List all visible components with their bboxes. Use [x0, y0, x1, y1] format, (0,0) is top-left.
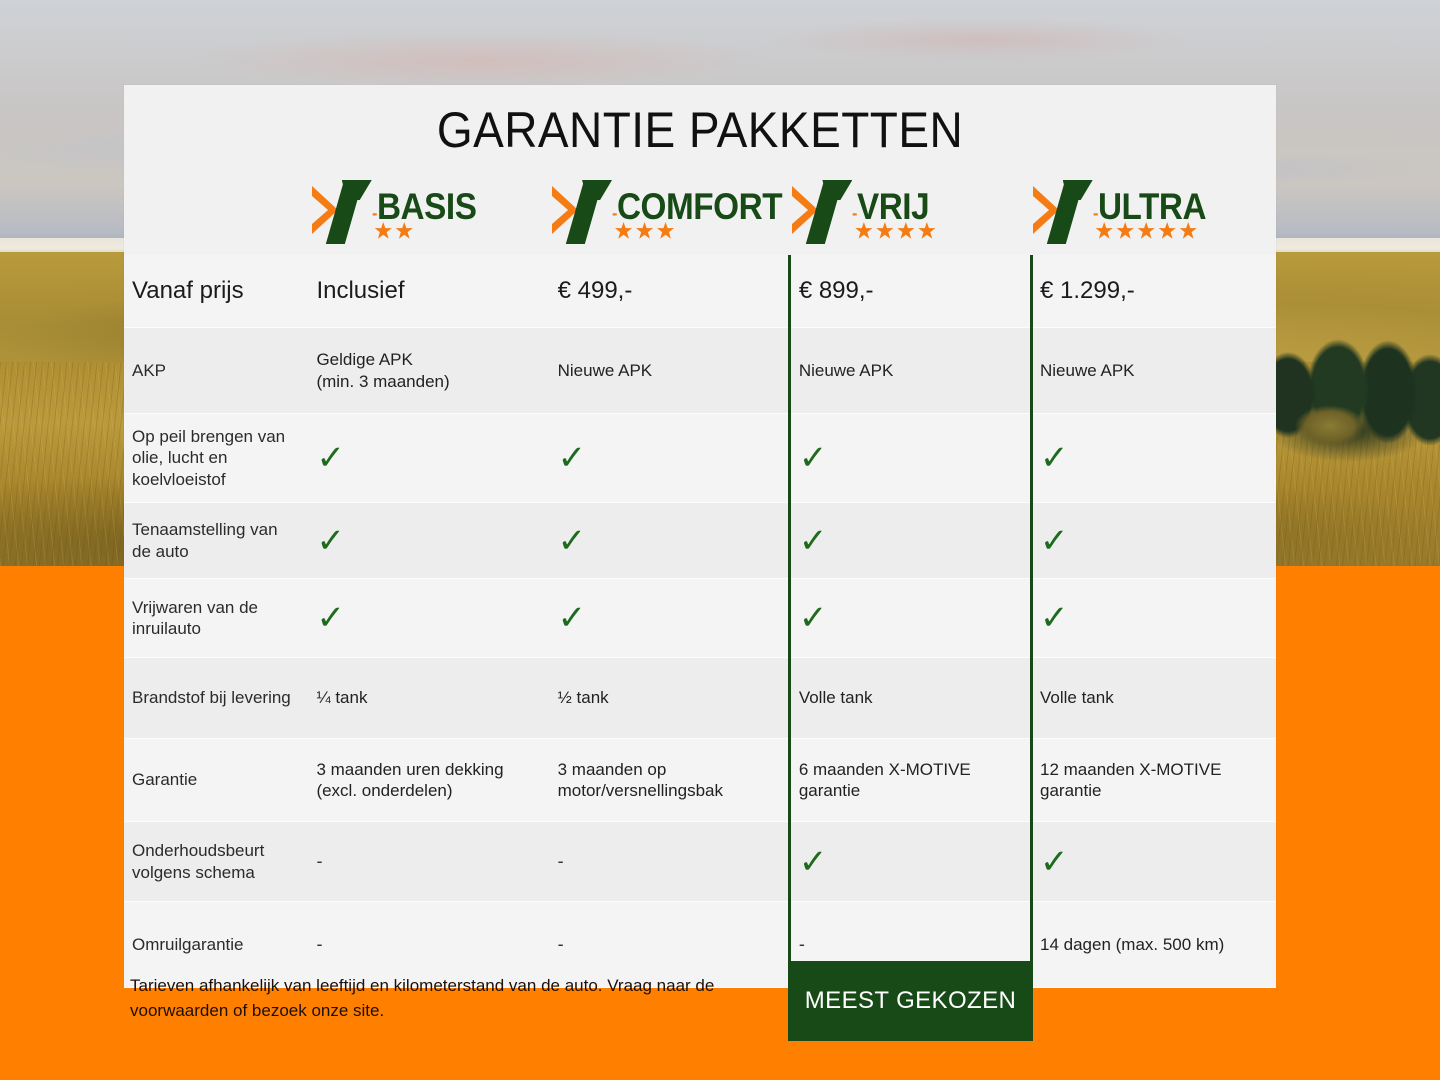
- page-title: GARANTIE PAKKETTEN: [170, 85, 1230, 159]
- row-label: AKP: [132, 360, 166, 381]
- cell-value: Nieuwe APK: [799, 360, 894, 381]
- highlight-border-right: [1030, 255, 1033, 979]
- package-header-vrij[interactable]: -VRIJ: [792, 170, 1032, 255]
- x-mark-icon: [552, 178, 618, 244]
- row-label: Vrijwaren van de inruilauto: [132, 597, 300, 640]
- check-icon: ✓: [799, 601, 828, 635]
- row-label: Op peil brengen van olie, lucht en koelv…: [132, 426, 300, 490]
- row-label: Onderhoudsbeurt volgens schema: [132, 840, 300, 883]
- table-row: Vanaf prijs Inclusief € 499,- € 899,- € …: [124, 255, 1276, 328]
- check-icon: ✓: [316, 601, 345, 635]
- check-icon: ✓: [799, 845, 828, 879]
- cell-value: € 899,-: [799, 276, 874, 306]
- row-label: Tenaamstelling van de auto: [132, 519, 300, 562]
- table-row: AKP Geldige APK(min. 3 maanden) Nieuwe A…: [124, 328, 1276, 414]
- cell-value: Volle tank: [1040, 687, 1114, 708]
- cell-value: Nieuwe APK: [1040, 360, 1135, 381]
- rating-stars-ultra: [1095, 222, 1198, 241]
- cell-value: € 499,-: [558, 276, 633, 306]
- cell-value: Inclusief: [316, 276, 404, 306]
- check-icon: ✓: [558, 601, 587, 635]
- cell-value: ¼ tank: [316, 687, 367, 708]
- package-header-basis[interactable]: -BASIS: [312, 170, 552, 255]
- cell-value: -: [316, 851, 322, 872]
- check-icon: ✓: [1040, 601, 1069, 635]
- row-label: Omruilgarantie: [132, 934, 244, 955]
- check-icon: ✓: [1040, 441, 1069, 475]
- check-icon: ✓: [1040, 845, 1069, 879]
- x-mark-icon: [1033, 178, 1099, 244]
- check-icon: ✓: [558, 441, 587, 475]
- cell-value: -: [558, 851, 564, 872]
- rating-stars-comfort: [614, 222, 675, 241]
- cell-value: € 1.299,-: [1040, 276, 1135, 306]
- check-icon: ✓: [558, 524, 587, 558]
- cell-value: 12 maanden X-MOTIVEgarantie: [1040, 759, 1221, 802]
- check-icon: ✓: [799, 524, 828, 558]
- table-row: Vrijwaren van de inruilauto ✓ ✓ ✓ ✓: [124, 579, 1276, 658]
- package-header-row: -BASIS -COMFORT: [124, 170, 1276, 255]
- x-mark-icon: [312, 178, 378, 244]
- check-icon: ✓: [1040, 524, 1069, 558]
- highlight-border-left: [788, 255, 791, 979]
- table-row: Op peil brengen van olie, lucht en koelv…: [124, 414, 1276, 503]
- cell-value: 3 maanden opmotor/versnellingsbak: [558, 759, 723, 802]
- header-spacer: [124, 170, 312, 255]
- check-icon: ✓: [316, 441, 345, 475]
- table-row: Garantie 3 maanden uren dekking(excl. on…: [124, 739, 1276, 822]
- row-label: Brandstof bij levering: [132, 687, 291, 708]
- table-row: Onderhoudsbeurt volgens schema - - ✓ ✓: [124, 822, 1276, 902]
- most-chosen-badge[interactable]: MEEST GEKOZEN: [788, 961, 1033, 1041]
- cell-value: -: [558, 934, 564, 955]
- row-label: Vanaf prijs: [132, 276, 244, 306]
- row-label: Garantie: [132, 769, 197, 790]
- small-shrub: [1286, 398, 1376, 454]
- cell-value: 3 maanden uren dekking(excl. onderdelen): [316, 759, 503, 802]
- check-icon: ✓: [799, 441, 828, 475]
- cell-value: Volle tank: [799, 687, 873, 708]
- package-header-ultra[interactable]: -ULTRA: [1033, 170, 1276, 255]
- x-mark-icon: [792, 178, 858, 244]
- table-row: Brandstof bij levering ¼ tank ½ tank Vol…: [124, 658, 1276, 739]
- comparison-table: Vanaf prijs Inclusief € 499,- € 899,- € …: [124, 255, 1276, 988]
- cell-value: 6 maanden X-MOTIVEgarantie: [799, 759, 971, 802]
- package-header-comfort[interactable]: -COMFORT: [552, 170, 792, 255]
- cell-value: -: [799, 934, 805, 955]
- rating-stars-basis: [374, 222, 414, 241]
- disclaimer-text: Tarieven afhankelijk van leeftijd en kil…: [130, 974, 790, 1023]
- footer: Tarieven afhankelijk van leeftijd en kil…: [124, 958, 1276, 1050]
- cell-value: Nieuwe APK: [558, 360, 653, 381]
- table-row: Tenaamstelling van de auto ✓ ✓ ✓ ✓: [124, 503, 1276, 579]
- cell-value: ½ tank: [558, 687, 609, 708]
- cell-value: Geldige APK(min. 3 maanden): [316, 349, 449, 392]
- cell-value: 14 dagen (max. 500 km): [1040, 934, 1224, 955]
- garantie-pakketten-card: GARANTIE PAKKETTEN -BASIS: [124, 85, 1276, 958]
- check-icon: ✓: [316, 524, 345, 558]
- rating-stars-vrij: [854, 222, 936, 241]
- cell-value: -: [316, 934, 322, 955]
